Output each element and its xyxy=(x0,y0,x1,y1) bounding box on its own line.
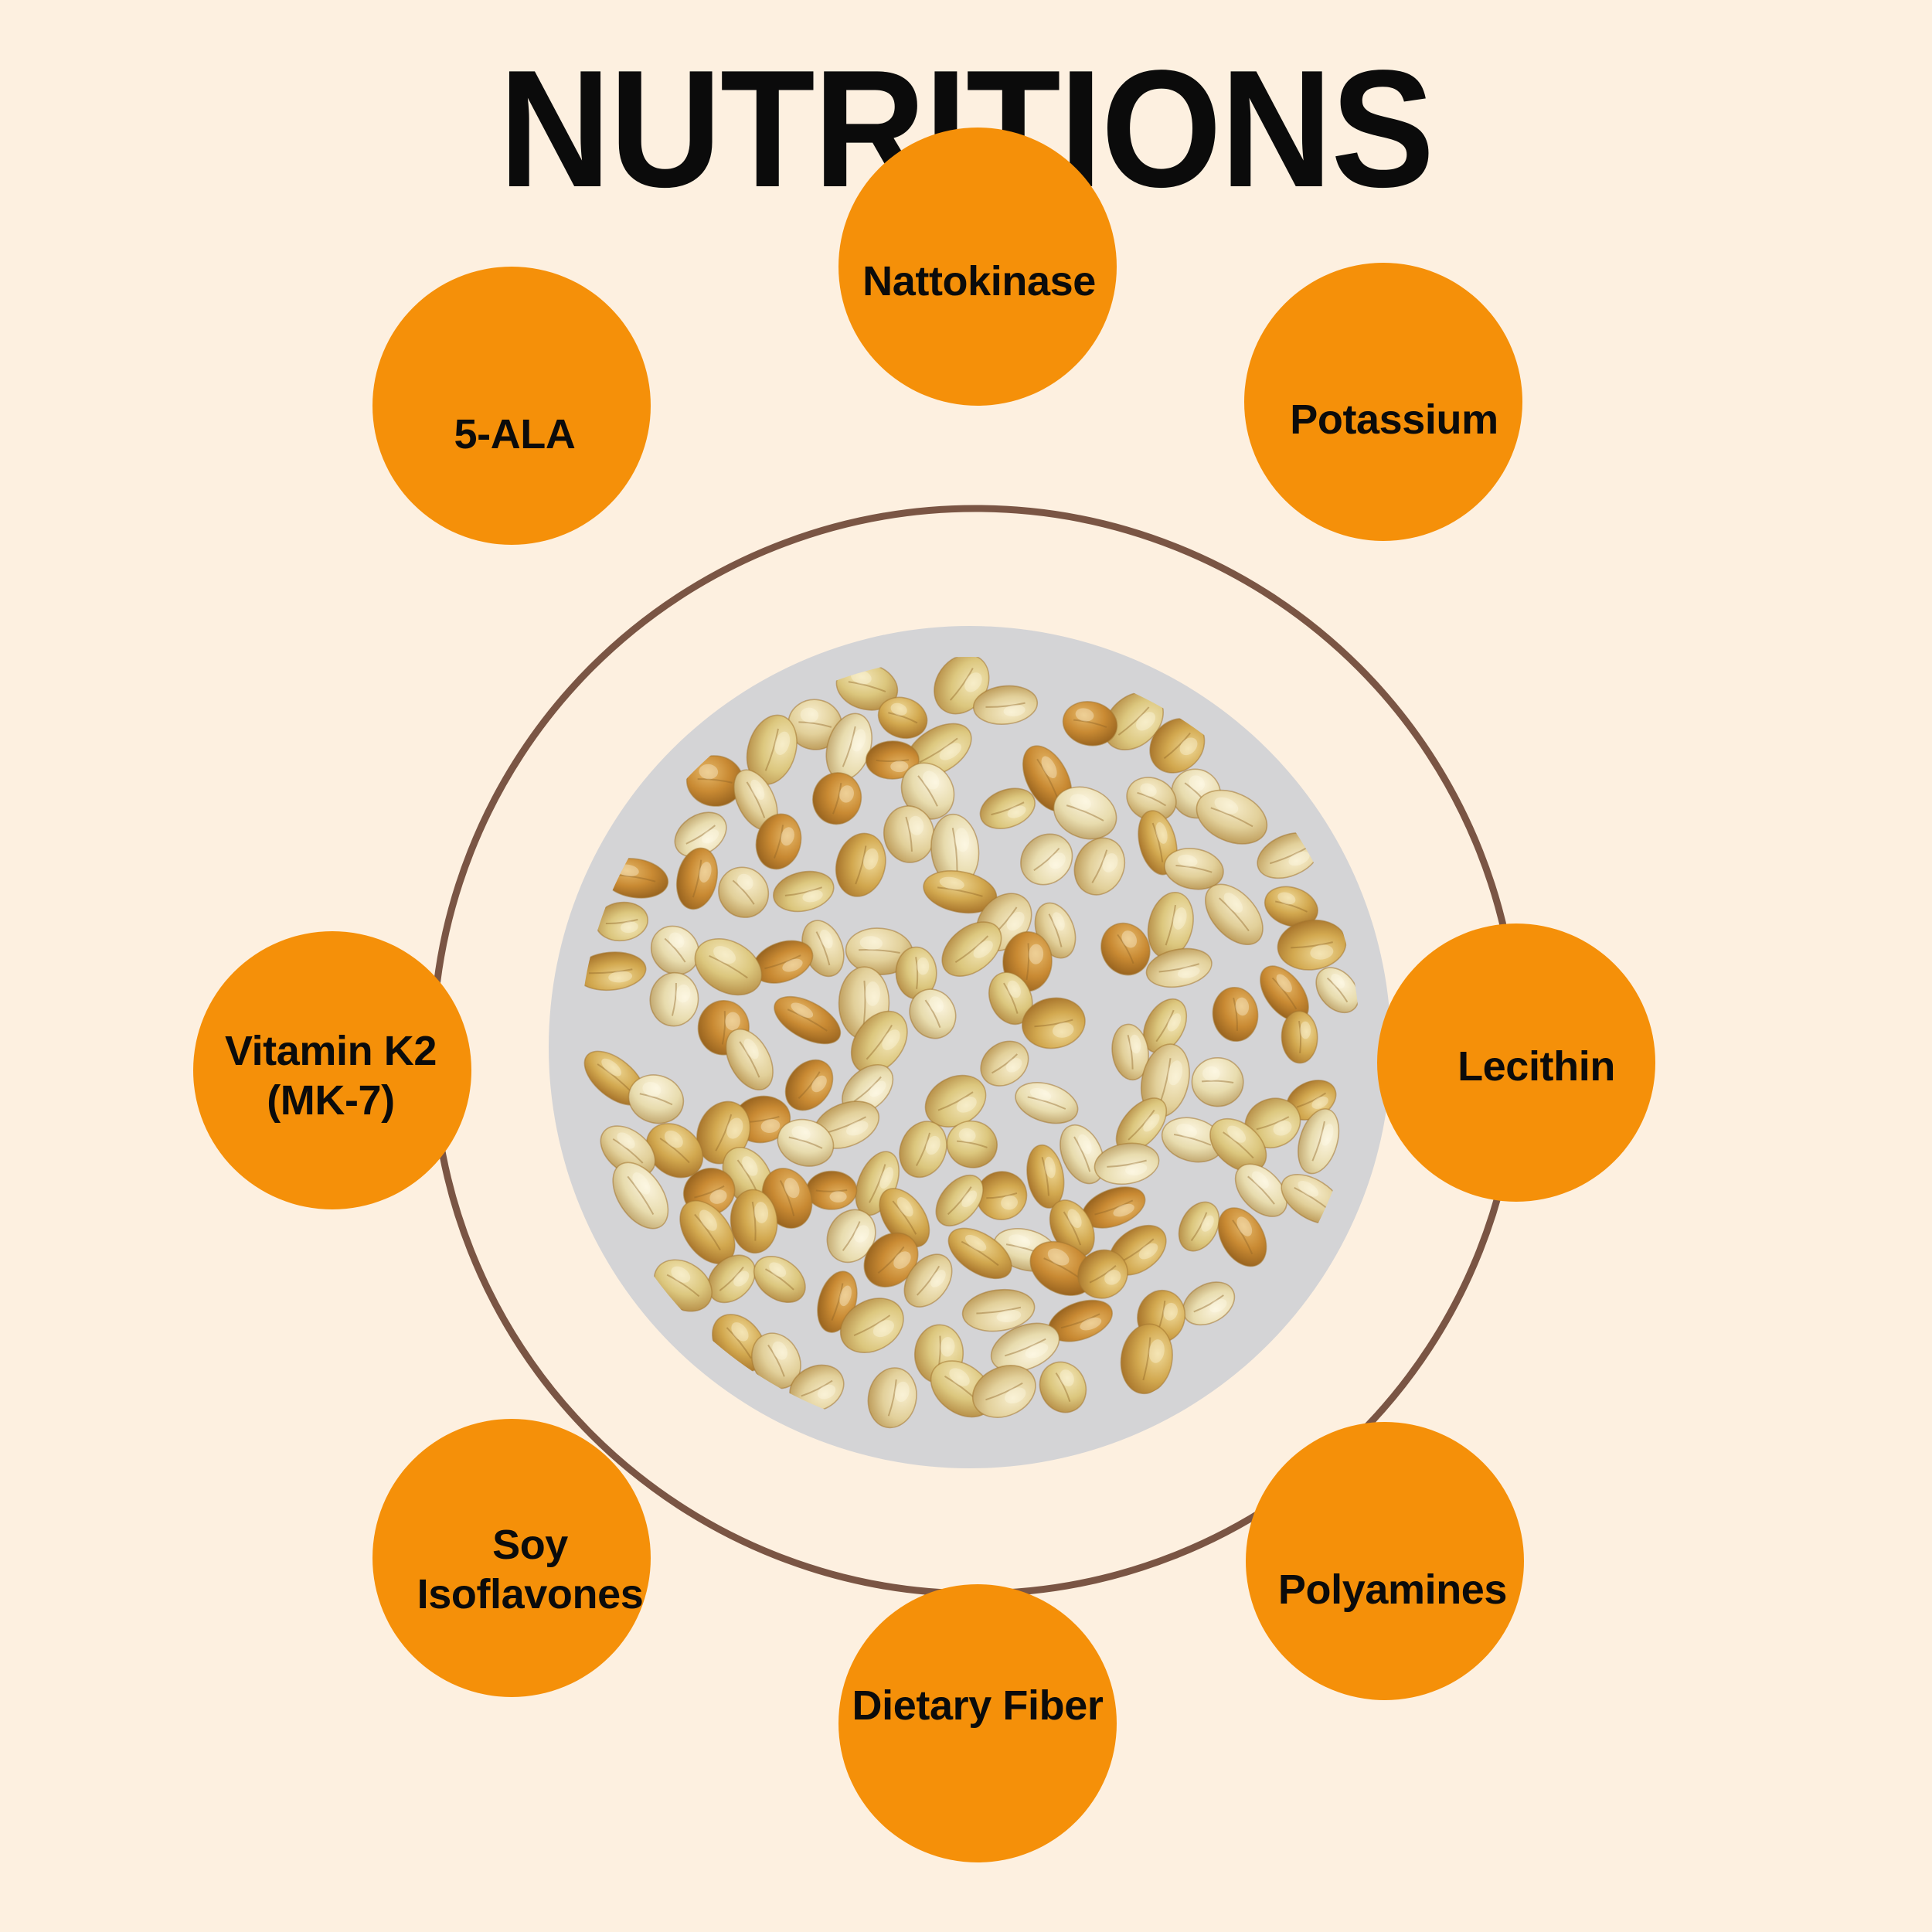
node-dietary-fiber[interactable]: Dietary Fiber xyxy=(838,1584,1117,1862)
node-polyamines[interactable]: Polyamines xyxy=(1246,1422,1524,1700)
node-label: Lecithin xyxy=(1447,1043,1626,1092)
node-5-ala[interactable]: 5-ALA xyxy=(372,267,651,545)
node-label: Vitamin K2 (MK-7) xyxy=(214,1027,447,1125)
center-plate xyxy=(549,626,1391,1468)
node-vitamin-k2[interactable]: Vitamin K2 (MK-7) xyxy=(193,931,471,1209)
node-label: Nattokinase xyxy=(852,257,1107,307)
node-label: Dietary Fiber xyxy=(842,1682,1114,1731)
node-soy-isoflavones[interactable]: Soy Isoflavones xyxy=(372,1419,651,1697)
node-label: Polyamines xyxy=(1267,1566,1518,1615)
node-nattokinase[interactable]: Nattokinase xyxy=(838,128,1117,406)
node-potassium[interactable]: Potassium xyxy=(1244,263,1522,541)
natto-soybeans-photo xyxy=(549,626,1391,1468)
node-lecithin[interactable]: Lecithin xyxy=(1377,923,1655,1202)
node-label: Potassium xyxy=(1279,396,1509,445)
node-label: Soy Isoflavones xyxy=(406,1521,655,1619)
infographic-canvas: NUTRITIONS xyxy=(0,0,1932,1932)
node-label: 5-ALA xyxy=(444,410,587,460)
